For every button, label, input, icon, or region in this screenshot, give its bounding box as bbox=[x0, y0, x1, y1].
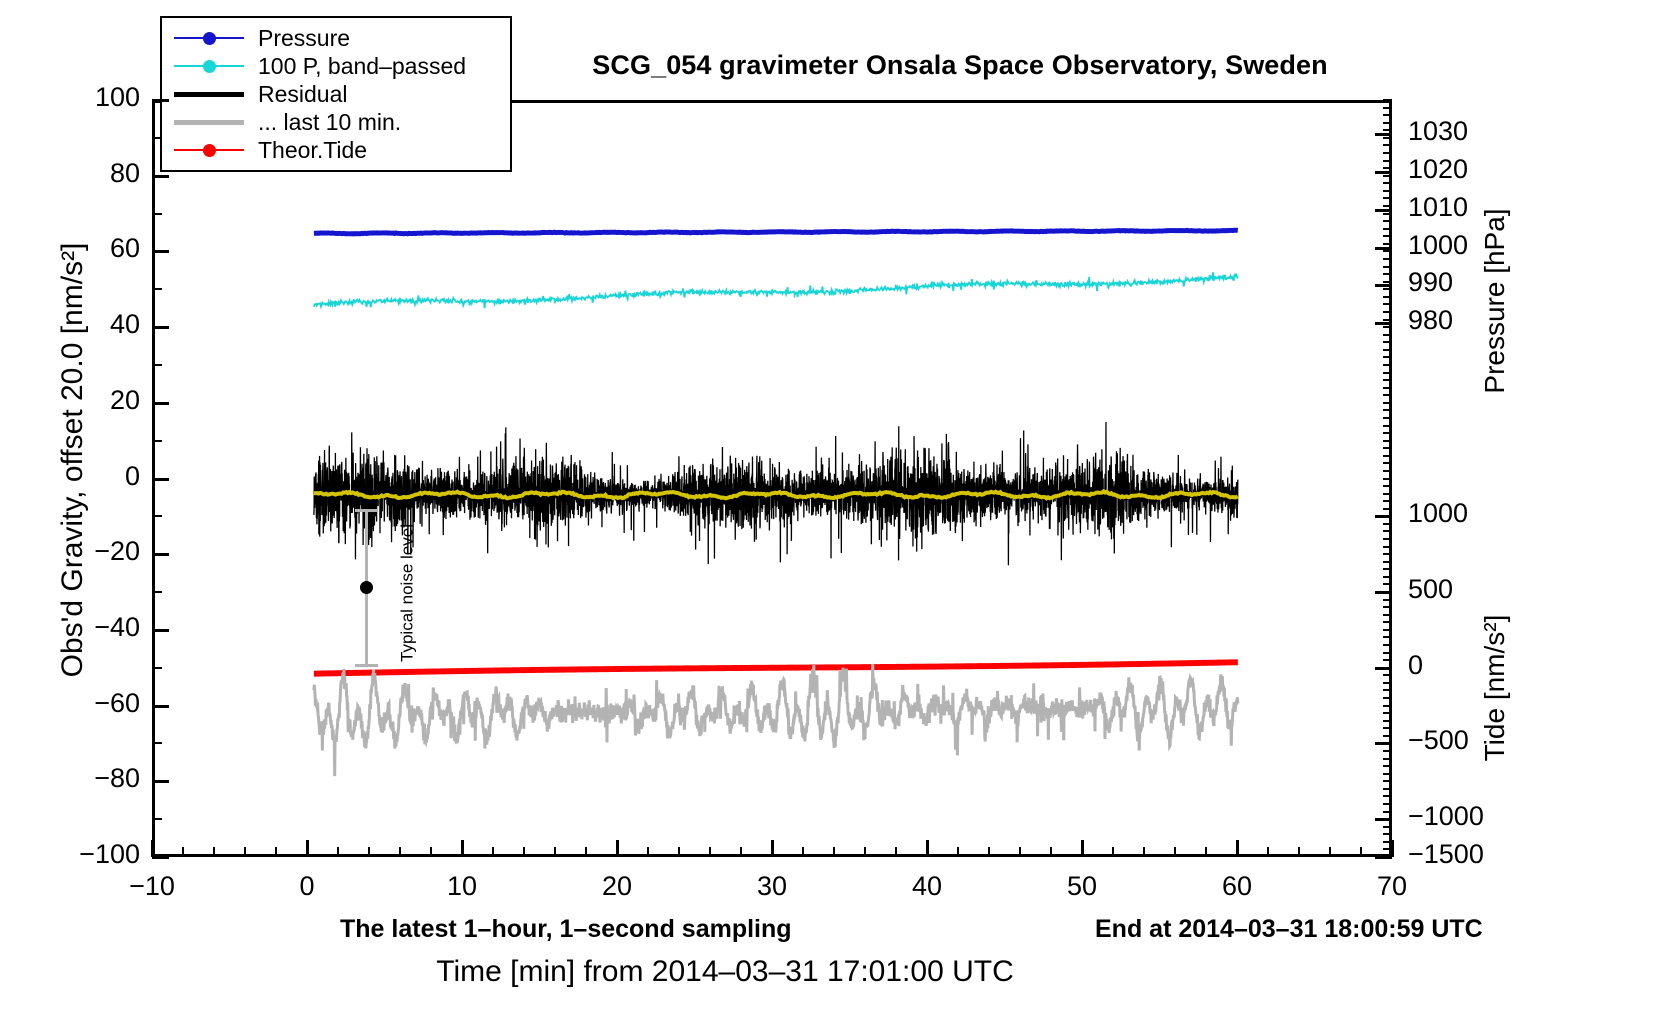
y-tick-left bbox=[152, 402, 169, 405]
y-minor-tick-right bbox=[1383, 659, 1392, 661]
y-tick-label-right-tide: 1000 bbox=[1408, 498, 1538, 529]
series-last-10-min bbox=[314, 664, 1238, 776]
y-minor-tick-right bbox=[1383, 773, 1392, 775]
x-minor-tick bbox=[647, 847, 649, 857]
y-minor-tick-left bbox=[152, 515, 162, 517]
x-tick bbox=[616, 840, 619, 857]
y-minor-tick-right bbox=[1383, 122, 1392, 124]
legend-swatch-icon bbox=[170, 54, 248, 78]
y-tick-left bbox=[152, 705, 169, 708]
y-minor-tick-right bbox=[1383, 266, 1392, 268]
y-minor-tick-right bbox=[1383, 485, 1392, 487]
y-minor-tick-right bbox=[1383, 160, 1392, 162]
x-minor-tick bbox=[1019, 847, 1021, 857]
y-minor-tick-right bbox=[1383, 356, 1392, 358]
y-minor-tick-right bbox=[1383, 175, 1392, 177]
y-minor-tick-right bbox=[1383, 523, 1392, 525]
y-minor-tick-right bbox=[1383, 417, 1392, 419]
y-minor-tick-right bbox=[1383, 228, 1392, 230]
y-minor-tick-right bbox=[1383, 425, 1392, 427]
legend-item-0[interactable]: Pressure bbox=[170, 24, 502, 52]
noise-center-dot bbox=[360, 581, 373, 594]
y-tick-label-left: 80 bbox=[12, 158, 140, 189]
x-minor-tick bbox=[1174, 847, 1176, 857]
plot-area: Typical noise level The latest 1–hour, 1… bbox=[152, 100, 1392, 857]
x-tick-label: 60 bbox=[1167, 871, 1307, 902]
legend-label: Residual bbox=[248, 81, 348, 108]
noise-annotation-label: Typical noise level bbox=[398, 506, 418, 681]
y-minor-tick-right bbox=[1383, 742, 1392, 744]
noise-errorbar-cap-bottom bbox=[355, 664, 378, 667]
y-minor-tick-left bbox=[152, 591, 162, 593]
x-minor-tick bbox=[213, 847, 215, 857]
y-minor-tick-right bbox=[1383, 561, 1392, 563]
y-minor-tick-right bbox=[1383, 735, 1392, 737]
x-minor-tick bbox=[988, 847, 990, 857]
y-minor-tick-right bbox=[1383, 841, 1392, 843]
y-minor-tick-right bbox=[1383, 856, 1392, 858]
x-minor-tick bbox=[337, 847, 339, 857]
y-minor-tick-right bbox=[1383, 720, 1392, 722]
y-minor-tick-right bbox=[1383, 258, 1392, 260]
y-minor-tick-right bbox=[1383, 379, 1392, 381]
y-minor-tick-left bbox=[152, 742, 162, 744]
x-axis-title: Time [min] from 2014–03–31 17:01:00 UTC bbox=[0, 955, 1450, 989]
y-minor-tick-right bbox=[1383, 538, 1392, 540]
x-tick bbox=[461, 840, 464, 857]
y-minor-tick-right bbox=[1383, 197, 1392, 199]
x-tick bbox=[926, 840, 929, 857]
y-minor-tick-right bbox=[1383, 833, 1392, 835]
y-minor-tick-right bbox=[1383, 780, 1392, 782]
legend-label: Pressure bbox=[248, 25, 350, 52]
x-tick bbox=[1236, 840, 1239, 857]
chart-title: SCG_054 gravimeter Onsala Space Observat… bbox=[430, 50, 1490, 81]
x-minor-tick bbox=[182, 847, 184, 857]
y-minor-tick-right bbox=[1383, 144, 1392, 146]
y-tick-label-right-tide: −500 bbox=[1408, 725, 1538, 756]
chart-canvas: SCG_054 gravimeter Onsala Space Observat… bbox=[0, 0, 1660, 1020]
x-minor-tick bbox=[1267, 847, 1269, 857]
x-minor-tick bbox=[275, 847, 277, 857]
y-minor-tick-left bbox=[152, 667, 162, 669]
legend-label: Theor.Tide bbox=[248, 137, 367, 164]
x-tick-label: 20 bbox=[547, 871, 687, 902]
y-tick-label-right-pressure: 1000 bbox=[1408, 230, 1528, 261]
legend-label: 100 P, band–passed bbox=[248, 53, 466, 80]
y-tick-right-pressure bbox=[1375, 247, 1392, 250]
y-tick-label-right-tide: −1000 bbox=[1408, 801, 1538, 832]
y-minor-tick-right bbox=[1383, 826, 1392, 828]
series-band-passed bbox=[314, 272, 1238, 308]
y-minor-tick-right bbox=[1383, 712, 1392, 714]
y-tick-label-right-pressure: 990 bbox=[1408, 267, 1528, 298]
y-minor-tick-right bbox=[1383, 341, 1392, 343]
y-minor-tick-right bbox=[1383, 848, 1392, 850]
y-minor-tick-right bbox=[1383, 220, 1392, 222]
y-tick-left bbox=[152, 478, 169, 481]
x-tick-label: 40 bbox=[857, 871, 997, 902]
y-minor-tick-right bbox=[1383, 311, 1392, 313]
y-tick-label-left: −20 bbox=[12, 536, 140, 567]
y-tick-left bbox=[152, 629, 169, 632]
y-minor-tick-right bbox=[1383, 478, 1392, 480]
y-minor-tick-right bbox=[1383, 462, 1392, 464]
y-minor-tick-right bbox=[1383, 250, 1392, 252]
y-tick-right-pressure bbox=[1375, 133, 1392, 136]
y-minor-tick-right bbox=[1383, 493, 1392, 495]
y-tick-right-pressure bbox=[1375, 322, 1392, 325]
y-minor-tick-right bbox=[1383, 387, 1392, 389]
legend-swatch-icon bbox=[170, 26, 248, 50]
x-minor-tick bbox=[492, 847, 494, 857]
x-minor-tick bbox=[1298, 847, 1300, 857]
y-minor-tick-right bbox=[1383, 372, 1392, 374]
y-tick-label-left: 100 bbox=[12, 82, 140, 113]
y-minor-tick-right bbox=[1383, 591, 1392, 593]
y-minor-tick-left bbox=[152, 288, 162, 290]
legend-swatch-icon bbox=[170, 138, 248, 162]
y-minor-tick-right bbox=[1383, 440, 1392, 442]
y-tick-label-left: 40 bbox=[12, 309, 140, 340]
x-minor-tick bbox=[368, 847, 370, 857]
y-tick-label-right-pressure: 1020 bbox=[1408, 154, 1528, 185]
y-tick-label-left: 0 bbox=[12, 461, 140, 492]
y-minor-tick-right bbox=[1383, 303, 1392, 305]
y-tick-left bbox=[152, 553, 169, 556]
y-minor-tick-right bbox=[1383, 750, 1392, 752]
y-minor-tick-right bbox=[1383, 546, 1392, 548]
y-minor-tick-right bbox=[1383, 470, 1392, 472]
y-minor-tick-right bbox=[1383, 583, 1392, 585]
y-minor-tick-right bbox=[1383, 530, 1392, 532]
y-minor-tick-right bbox=[1383, 606, 1392, 608]
y-minor-tick-right bbox=[1383, 508, 1392, 510]
y-tick-left bbox=[152, 326, 169, 329]
y-tick-label-left: −40 bbox=[12, 612, 140, 643]
y-minor-tick-right bbox=[1383, 129, 1392, 131]
legend-swatch-icon bbox=[170, 110, 248, 134]
y-minor-tick-right bbox=[1383, 205, 1392, 207]
y-minor-tick-right bbox=[1383, 788, 1392, 790]
y-minor-tick-right bbox=[1383, 599, 1392, 601]
x-tick-label: 70 bbox=[1322, 871, 1462, 902]
y-tick-label-right-tide: 500 bbox=[1408, 574, 1538, 605]
y-tick-right-pressure bbox=[1375, 171, 1392, 174]
x-tick-label: 0 bbox=[237, 871, 377, 902]
y-minor-tick-right bbox=[1383, 402, 1392, 404]
y-minor-tick-right bbox=[1383, 288, 1392, 290]
y-tick-label-right-pressure: 1010 bbox=[1408, 192, 1528, 223]
y-minor-tick-right bbox=[1383, 326, 1392, 328]
y-tick-right-pressure bbox=[1375, 284, 1392, 287]
x-minor-tick bbox=[244, 847, 246, 857]
caption-end-time: End at 2014–03–31 18:00:59 UTC bbox=[1095, 915, 1483, 944]
y-minor-tick-right bbox=[1383, 455, 1392, 457]
x-minor-tick bbox=[740, 847, 742, 857]
y-minor-tick-right bbox=[1383, 568, 1392, 570]
y-minor-tick-right bbox=[1383, 682, 1392, 684]
y-minor-tick-right bbox=[1383, 795, 1392, 797]
y-minor-tick-right bbox=[1383, 811, 1392, 813]
caption-sampling: The latest 1–hour, 1–second sampling bbox=[340, 915, 792, 944]
x-minor-tick bbox=[709, 847, 711, 857]
x-minor-tick bbox=[585, 847, 587, 857]
y-minor-tick-right bbox=[1383, 137, 1392, 139]
x-minor-tick bbox=[957, 847, 959, 857]
y-minor-tick-left bbox=[152, 364, 162, 366]
y-minor-tick-right bbox=[1383, 644, 1392, 646]
y-tick-label-left: 60 bbox=[12, 233, 140, 264]
y-minor-tick-right bbox=[1383, 273, 1392, 275]
y-minor-tick-right bbox=[1383, 432, 1392, 434]
y-minor-tick-right bbox=[1383, 99, 1392, 101]
y-minor-tick-right bbox=[1383, 576, 1392, 578]
x-tick-label: 30 bbox=[702, 871, 842, 902]
y-minor-tick-left bbox=[152, 137, 162, 139]
legend-item-3[interactable]: ... last 10 min. bbox=[170, 108, 502, 136]
y-tick-label-right-pressure: 1030 bbox=[1408, 116, 1528, 147]
y-minor-tick-right bbox=[1383, 281, 1392, 283]
typical-noise-level-annotation: Typical noise level bbox=[341, 503, 431, 673]
x-minor-tick bbox=[864, 847, 866, 857]
x-minor-tick bbox=[430, 847, 432, 857]
series-pressure bbox=[314, 230, 1238, 234]
y-minor-tick-right bbox=[1383, 629, 1392, 631]
x-minor-tick bbox=[895, 847, 897, 857]
y-minor-tick-right bbox=[1383, 667, 1392, 669]
y-minor-tick-right bbox=[1383, 394, 1392, 396]
y-minor-tick-right bbox=[1383, 107, 1392, 109]
y-minor-tick-right bbox=[1383, 689, 1392, 691]
y-minor-tick-right bbox=[1383, 500, 1392, 502]
noise-errorbar-cap-top bbox=[355, 509, 378, 512]
y-minor-tick-right bbox=[1383, 621, 1392, 623]
y-minor-tick-right bbox=[1383, 447, 1392, 449]
y-minor-tick-right bbox=[1383, 705, 1392, 707]
y-minor-tick-right bbox=[1383, 765, 1392, 767]
y-tick-left bbox=[152, 780, 169, 783]
x-minor-tick bbox=[678, 847, 680, 857]
x-minor-tick bbox=[554, 847, 556, 857]
y-minor-tick-left bbox=[152, 440, 162, 442]
x-tick bbox=[1081, 840, 1084, 857]
x-minor-tick bbox=[523, 847, 525, 857]
x-tick-label: −10 bbox=[82, 871, 222, 902]
legend-item-1[interactable]: 100 P, band–passed bbox=[170, 52, 502, 80]
x-minor-tick bbox=[1050, 847, 1052, 857]
y-minor-tick-right bbox=[1383, 334, 1392, 336]
x-minor-tick bbox=[1205, 847, 1207, 857]
x-tick bbox=[151, 840, 154, 857]
x-minor-tick bbox=[1329, 847, 1331, 857]
x-minor-tick bbox=[399, 847, 401, 857]
y-minor-tick-right bbox=[1383, 152, 1392, 154]
series-container bbox=[155, 103, 1389, 854]
y-minor-tick-right bbox=[1383, 167, 1392, 169]
y-tick-left bbox=[152, 99, 169, 102]
y-minor-tick-right bbox=[1383, 818, 1392, 820]
series-theor-tide bbox=[314, 662, 1238, 673]
y-minor-tick-right bbox=[1383, 182, 1392, 184]
y-tick-left bbox=[152, 250, 169, 253]
y-minor-tick-right bbox=[1383, 190, 1392, 192]
y-tick-left bbox=[152, 175, 169, 178]
y-tick-label-right-tide: −1500 bbox=[1408, 839, 1538, 870]
y-minor-tick-right bbox=[1383, 515, 1392, 517]
y-tick-label-left: −80 bbox=[12, 763, 140, 794]
y-minor-tick-right bbox=[1383, 803, 1392, 805]
y-minor-tick-right bbox=[1383, 674, 1392, 676]
y-tick-right-pressure bbox=[1375, 209, 1392, 212]
x-minor-tick bbox=[1112, 847, 1114, 857]
y-minor-tick-right bbox=[1383, 213, 1392, 215]
x-minor-tick bbox=[833, 847, 835, 857]
y-minor-tick-left bbox=[152, 213, 162, 215]
y-minor-tick-left bbox=[152, 818, 162, 820]
x-tick bbox=[306, 840, 309, 857]
y-tick-label-left: 20 bbox=[12, 385, 140, 416]
legend-label: ... last 10 min. bbox=[248, 109, 401, 136]
y-minor-tick-right bbox=[1383, 758, 1392, 760]
y-minor-tick-right bbox=[1383, 409, 1392, 411]
x-tick-label: 50 bbox=[1012, 871, 1152, 902]
y-tick-left bbox=[152, 856, 169, 859]
x-tick-label: 10 bbox=[392, 871, 532, 902]
y-minor-tick-right bbox=[1383, 614, 1392, 616]
y-minor-tick-right bbox=[1383, 652, 1392, 654]
legend-item-4[interactable]: Theor.Tide bbox=[170, 136, 502, 164]
y-minor-tick-right bbox=[1383, 243, 1392, 245]
y-tick-label-left: −100 bbox=[12, 839, 140, 870]
y-minor-tick-right bbox=[1383, 235, 1392, 237]
y-minor-tick-right bbox=[1383, 364, 1392, 366]
x-minor-tick bbox=[1143, 847, 1145, 857]
x-minor-tick bbox=[802, 847, 804, 857]
y-tick-label-left: −60 bbox=[12, 688, 140, 719]
y-minor-tick-right bbox=[1383, 636, 1392, 638]
y-minor-tick-right bbox=[1383, 296, 1392, 298]
y-minor-tick-right bbox=[1383, 727, 1392, 729]
legend-item-2[interactable]: Residual bbox=[170, 80, 502, 108]
y-minor-tick-right bbox=[1383, 114, 1392, 116]
y-minor-tick-right bbox=[1383, 697, 1392, 699]
y-minor-tick-right bbox=[1383, 553, 1392, 555]
x-minor-tick bbox=[1360, 847, 1362, 857]
legend-swatch-icon bbox=[170, 82, 248, 106]
y-minor-tick-right bbox=[1383, 349, 1392, 351]
y-tick-label-right-pressure: 980 bbox=[1408, 305, 1528, 336]
y-minor-tick-right bbox=[1383, 319, 1392, 321]
y-tick-label-right-tide: 0 bbox=[1408, 650, 1538, 681]
x-tick bbox=[771, 840, 774, 857]
legend: Pressure100 P, band–passedResidual... la… bbox=[160, 16, 512, 172]
